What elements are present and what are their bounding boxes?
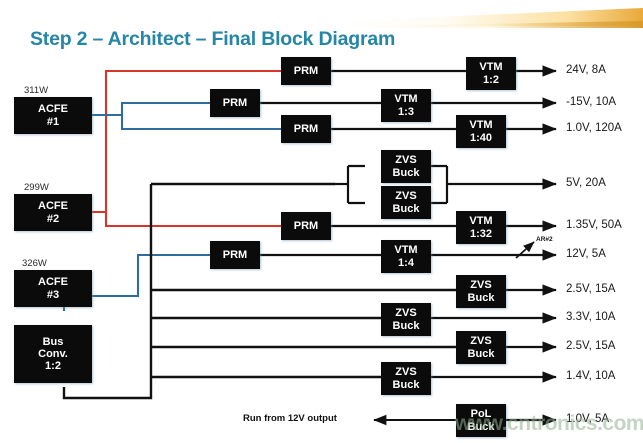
output-label-6: 12V, 5A bbox=[566, 248, 606, 260]
vtm12-name: VTM bbox=[479, 61, 502, 73]
block-acfe-2[interactable]: ACFE #2 bbox=[14, 194, 92, 231]
output-label-5: 1.35V, 50A bbox=[566, 219, 622, 231]
vtm140-ratio: 1:40 bbox=[470, 132, 492, 144]
prm5-name: PRM bbox=[294, 220, 318, 232]
block-vtm-1-2[interactable]: VTM 1:2 bbox=[466, 57, 516, 90]
zvs4-name: ZVS bbox=[395, 307, 416, 319]
zvs5-ratio: Buck bbox=[468, 348, 495, 360]
bus-conv-line1: Bus bbox=[43, 336, 64, 348]
block-prm-5[interactable]: PRM bbox=[281, 212, 331, 240]
output-label-9: 2.5V, 15A bbox=[566, 340, 615, 352]
block-acfe-3[interactable]: ACFE #3 bbox=[14, 270, 92, 307]
output-label-2: -15V, 10A bbox=[566, 96, 616, 108]
zvs1-ratio: Buck bbox=[393, 167, 420, 179]
vtm14-ratio: 1:4 bbox=[398, 257, 414, 269]
power-label-acfe3: 326W bbox=[22, 258, 47, 269]
block-vtm-1-32[interactable]: VTM 1:32 bbox=[456, 211, 506, 244]
output-label-7: 2.5V, 15A bbox=[566, 283, 615, 295]
output-label-1: 24V, 8A bbox=[566, 64, 606, 76]
zvs4-ratio: Buck bbox=[393, 320, 420, 332]
block-zvs-buck-6[interactable]: ZVS Buck bbox=[381, 362, 431, 395]
output-label-8: 3.3V, 10A bbox=[566, 311, 615, 323]
vtm13-name: VTM bbox=[394, 93, 417, 105]
block-prm-4[interactable]: PRM bbox=[210, 241, 260, 269]
block-vtm-1-40[interactable]: VTM 1:40 bbox=[456, 115, 506, 148]
block-zvs-buck-3[interactable]: ZVS Buck bbox=[456, 275, 506, 308]
acfe3-id: #3 bbox=[47, 289, 59, 301]
block-zvs-buck-5[interactable]: ZVS Buck bbox=[456, 331, 506, 364]
vtm140-name: VTM bbox=[469, 119, 492, 131]
bus-conv-line2: Conv. bbox=[38, 348, 68, 360]
zvs1-name: ZVS bbox=[395, 154, 416, 166]
acfe2-name: ACFE bbox=[38, 200, 68, 212]
block-zvs-buck-2[interactable]: ZVS Buck bbox=[381, 186, 431, 219]
zvs6-name: ZVS bbox=[395, 366, 416, 378]
zvs5-name: ZVS bbox=[470, 335, 491, 347]
pol-ratio: Buck bbox=[468, 421, 495, 433]
vtm132-name: VTM bbox=[469, 215, 492, 227]
block-bus-converter[interactable]: Bus Conv. 1:2 bbox=[14, 325, 92, 383]
run-from-12v-note: Run from 12V output bbox=[243, 413, 337, 424]
prm1-name: PRM bbox=[294, 65, 318, 77]
zvs2-name: ZVS bbox=[395, 190, 416, 202]
zvs6-ratio: Buck bbox=[393, 379, 420, 391]
output-label-4: 5V, 20A bbox=[566, 177, 606, 189]
zvs3-ratio: Buck bbox=[468, 292, 495, 304]
block-vtm-1-3[interactable]: VTM 1:3 bbox=[381, 89, 431, 122]
block-acfe-1[interactable]: ACFE #1 bbox=[14, 97, 92, 134]
block-zvs-buck-4[interactable]: ZVS Buck bbox=[381, 303, 431, 336]
block-zvs-buck-1[interactable]: ZVS Buck bbox=[381, 150, 431, 183]
power-label-acfe1: 311W bbox=[24, 85, 48, 96]
output-label-11: 1.0V, 5A bbox=[566, 413, 609, 425]
vtm14-name: VTM bbox=[394, 244, 417, 256]
acfe3-name: ACFE bbox=[38, 276, 68, 288]
prm2-name: PRM bbox=[223, 97, 247, 109]
output-label-10: 1.4V, 10A bbox=[566, 370, 615, 382]
acfe2-id: #2 bbox=[47, 213, 59, 225]
bus-conv-line3: 1:2 bbox=[45, 360, 61, 372]
ar2-annotation: AR#2 bbox=[536, 236, 553, 243]
pol-name: PoL bbox=[471, 408, 492, 420]
acfe1-id: #1 bbox=[47, 116, 59, 128]
prm4-name: PRM bbox=[223, 249, 247, 261]
zvs2-ratio: Buck bbox=[393, 203, 420, 215]
power-label-acfe2: 299W bbox=[24, 182, 49, 193]
acfe1-name: ACFE bbox=[38, 103, 68, 115]
block-prm-3[interactable]: PRM bbox=[281, 115, 331, 143]
output-label-3: 1.0V, 120A bbox=[566, 122, 622, 134]
block-vtm-1-4[interactable]: VTM 1:4 bbox=[381, 240, 431, 273]
slide-canvas: Step 2 – Architect – Final Block Diagram bbox=[0, 0, 643, 443]
vtm12-ratio: 1:2 bbox=[483, 74, 499, 86]
vtm132-ratio: 1:32 bbox=[470, 228, 492, 240]
zvs3-name: ZVS bbox=[470, 279, 491, 291]
block-pol-buck[interactable]: PoL Buck bbox=[456, 404, 506, 437]
block-prm-1[interactable]: PRM bbox=[281, 57, 331, 85]
prm3-name: PRM bbox=[294, 123, 318, 135]
vtm13-ratio: 1:3 bbox=[398, 106, 414, 118]
block-prm-2[interactable]: PRM bbox=[210, 89, 260, 117]
